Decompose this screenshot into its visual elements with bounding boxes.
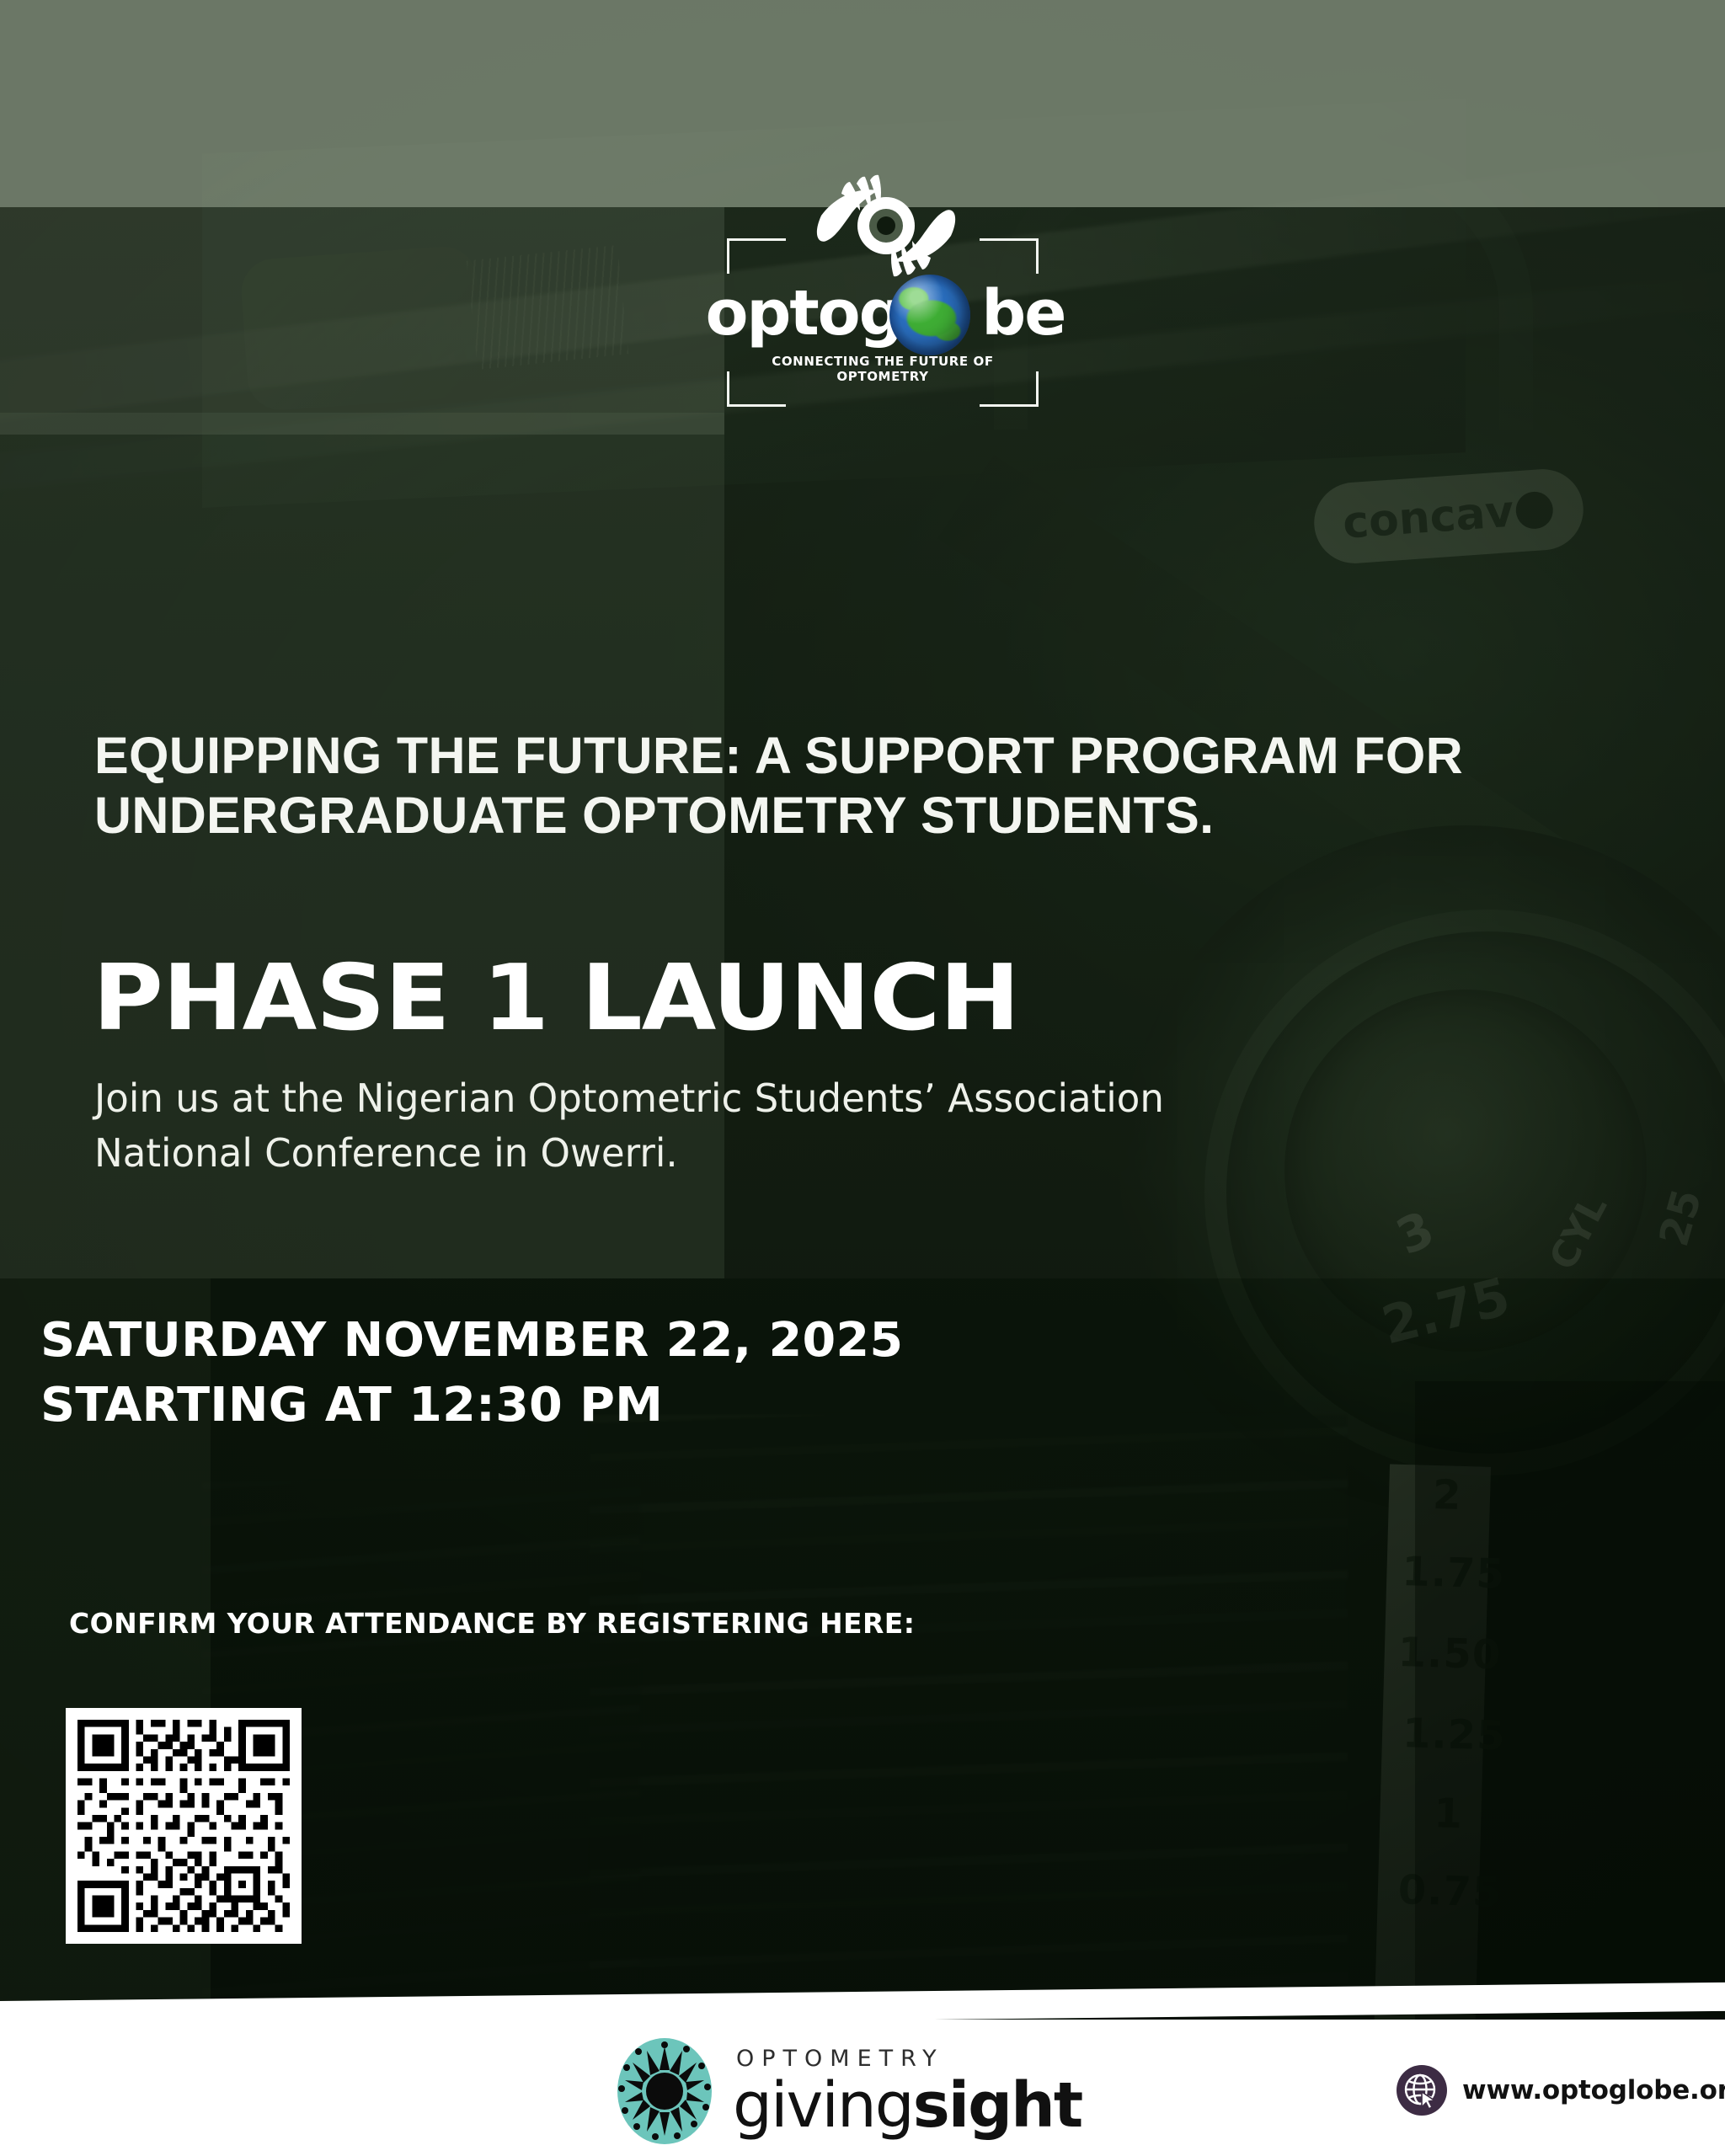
page-title: PHASE 1 LAUNCH	[93, 953, 1432, 1044]
registration-prompt: CONFIRM YOUR ATTENDANCE BY REGISTERING H…	[69, 1607, 915, 1640]
registration-qr-code[interactable]	[66, 1708, 302, 1944]
event-date: SATURDAY NOVEMBER 22, 2025	[40, 1308, 1243, 1373]
partner-name-top: OPTOMETRY	[736, 2047, 1081, 2070]
logo-wordmark-right: be	[981, 282, 1065, 344]
page-headline: EQUIPPING THE FUTURE: A SUPPORT PROGRAM …	[94, 726, 1627, 846]
subtitle-line-2: National Conference in Owerri.	[94, 1126, 1291, 1181]
website-link[interactable]: www.optoglobe.org	[1397, 2065, 1725, 2116]
logo-tagline: CONNECTING THE FUTURE OF OPTOMETRY	[727, 354, 1039, 384]
partner-wordmark: OPTOMETRY givingsight	[733, 2047, 1081, 2134]
globe-cursor-icon	[1397, 2065, 1447, 2116]
website-url-text: www.optoglobe.org	[1462, 2075, 1725, 2105]
subtitle-line-1: Join us at the Nigerian Optometric Stude…	[94, 1071, 1291, 1126]
eye-logo-icon	[806, 167, 966, 285]
partner-name-sight: sight	[913, 2069, 1081, 2142]
globe-logo-icon	[889, 275, 970, 355]
frame-corner-top-right-icon	[980, 238, 1039, 274]
page-subtitle: Join us at the Nigerian Optometric Stude…	[94, 1071, 1291, 1182]
logo-wordmark: optogl be	[721, 280, 1049, 347]
partner-name-giving: giving	[733, 2069, 913, 2142]
event-datetime: SATURDAY NOVEMBER 22, 2025 STARTING AT 1…	[40, 1308, 1243, 1438]
tint-band-right-dark	[1415, 1381, 1725, 2023]
tint-band-upper-left	[0, 207, 724, 435]
partner-logo: OPTOMETRY givingsight	[615, 2036, 1081, 2146]
optometry-giving-sight-sunburst-icon	[615, 2036, 714, 2146]
partner-name-bottom: givingsight	[733, 2077, 1081, 2134]
event-time: STARTING AT 12:30 PM	[40, 1373, 1243, 1438]
poster-canvas: concav 3 CYL 25 2.75 2 1.75 1.50 1.25 1 …	[0, 0, 1725, 2156]
frame-corner-top-left-icon	[727, 238, 786, 274]
